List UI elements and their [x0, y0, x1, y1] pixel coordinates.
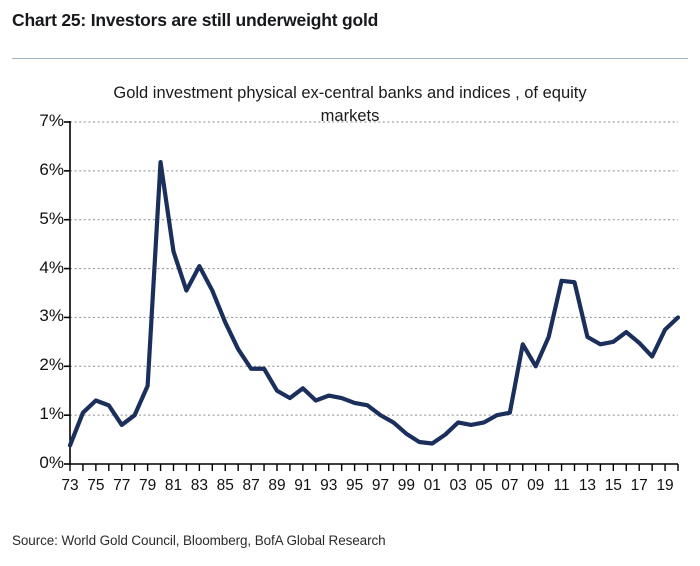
x-axis-tick-label: 01 [424, 478, 441, 494]
y-axis-tick-label: 4% [20, 259, 64, 276]
y-axis-tick-label: 6% [20, 161, 64, 178]
x-axis-tick-label: 97 [372, 478, 389, 494]
x-axis-tick-label: 77 [113, 478, 130, 494]
x-axis-tick-label: 95 [346, 478, 363, 494]
x-axis-tick-label: 91 [294, 478, 311, 494]
x-axis-tick-label: 13 [579, 478, 596, 494]
chart-page: Chart 25: Investors are still underweigh… [0, 0, 700, 566]
x-axis-tick-label: 83 [191, 478, 208, 494]
x-axis-tick-label: 87 [242, 478, 259, 494]
x-axis-tick-label: 07 [501, 478, 518, 494]
x-axis-tick-label: 81 [165, 478, 182, 494]
source-note: Source: World Gold Council, Bloomberg, B… [12, 533, 386, 548]
y-axis-tick-label: 3% [20, 307, 64, 324]
x-axis-tick-label: 75 [87, 478, 104, 494]
x-axis-tick-label: 93 [320, 478, 337, 494]
y-axis-tick-label: 5% [20, 210, 64, 227]
x-axis-tick-label: 89 [268, 478, 285, 494]
x-axis-tick-label: 15 [605, 478, 622, 494]
x-axis-tick-label: 99 [398, 478, 415, 494]
data-series-line [70, 162, 678, 445]
x-axis-tick-label: 19 [656, 478, 673, 494]
y-axis-tick-label: 0% [20, 454, 64, 471]
x-axis-tick-label: 79 [139, 478, 156, 494]
y-axis-tick-label: 1% [20, 405, 64, 422]
x-axis-tick-label: 17 [631, 478, 648, 494]
x-axis-tick-label: 11 [554, 478, 570, 494]
y-axis-tick-label: 2% [20, 356, 64, 373]
x-axis-tick-label: 85 [217, 478, 234, 494]
x-axis-tick-label: 09 [527, 478, 544, 494]
x-axis-tick-label: 05 [475, 478, 492, 494]
x-axis-tick-label: 73 [61, 478, 78, 494]
y-axis-tick-label: 7% [20, 112, 64, 129]
x-axis-tick-label: 03 [449, 478, 466, 494]
